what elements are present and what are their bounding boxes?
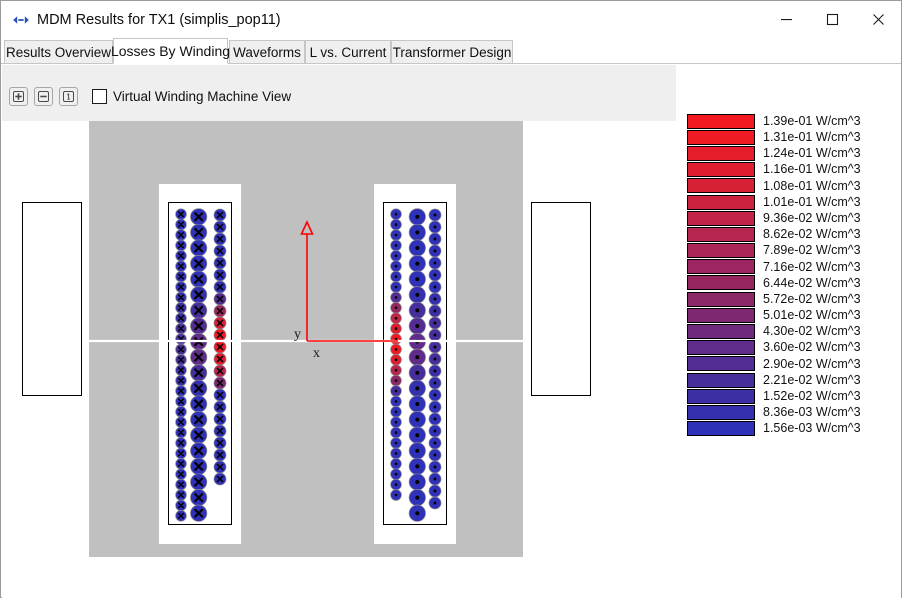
legend-value-label: 1.16e-01 W/cm^3 bbox=[763, 163, 861, 176]
legend-row: 7.16e-02 W/cm^3 bbox=[687, 259, 867, 275]
legend-color-swatch bbox=[687, 146, 755, 161]
legend-value-label: 1.52e-02 W/cm^3 bbox=[763, 390, 861, 403]
virtual-winding-machine-label: Virtual Winding Machine View bbox=[113, 89, 291, 104]
legend-row: 1.24e-01 W/cm^3 bbox=[687, 145, 867, 161]
legend-value-label: 5.72e-02 W/cm^3 bbox=[763, 293, 861, 306]
legend-value-label: 4.30e-02 W/cm^3 bbox=[763, 325, 861, 338]
legend-row: 4.30e-02 W/cm^3 bbox=[687, 323, 867, 339]
tab-label: L vs. Current bbox=[310, 45, 387, 60]
virtual-winding-machine-checkbox[interactable] bbox=[92, 89, 107, 104]
legend-row: 8.62e-02 W/cm^3 bbox=[687, 226, 867, 242]
legend-row: 1.16e-01 W/cm^3 bbox=[687, 162, 867, 178]
legend-value-label: 1.39e-01 W/cm^3 bbox=[763, 115, 861, 128]
loss-density-legend: 1.39e-01 W/cm^31.31e-01 W/cm^31.24e-01 W… bbox=[687, 113, 867, 437]
legend-value-label: 5.01e-02 W/cm^3 bbox=[763, 309, 861, 322]
view-toolbar: Virtual Winding Machine View 1: Primary … bbox=[2, 65, 676, 121]
legend-value-label: 3.60e-02 W/cm^3 bbox=[763, 341, 861, 354]
legend-color-swatch bbox=[687, 211, 755, 226]
legend-row: 5.01e-02 W/cm^3 bbox=[687, 307, 867, 323]
legend-color-swatch bbox=[687, 162, 755, 177]
legend-color-swatch bbox=[687, 178, 755, 193]
legend-value-label: 1.31e-01 W/cm^3 bbox=[763, 131, 861, 144]
legend-color-swatch bbox=[687, 259, 755, 274]
legend-row: 1.39e-01 W/cm^3 bbox=[687, 113, 867, 129]
zoom-in-button[interactable] bbox=[9, 87, 28, 106]
tab-label: Results Overview bbox=[6, 45, 111, 60]
legend-color-swatch bbox=[687, 275, 755, 290]
legend-value-label: 1.24e-01 W/cm^3 bbox=[763, 147, 861, 160]
legend-row: 7.89e-02 W/cm^3 bbox=[687, 243, 867, 259]
mdm-results-window: MDM Results for TX1 (simplis_pop11) Resu… bbox=[0, 0, 902, 598]
legend-color-swatch bbox=[687, 324, 755, 339]
legend-row: 6.44e-02 W/cm^3 bbox=[687, 275, 867, 291]
legend-row: 1.56e-03 W/cm^3 bbox=[687, 421, 867, 437]
legend-color-swatch bbox=[687, 308, 755, 323]
legend-row: 3.60e-02 W/cm^3 bbox=[687, 340, 867, 356]
legend-value-label: 2.21e-02 W/cm^3 bbox=[763, 374, 861, 387]
tab-label: Waveforms bbox=[233, 45, 301, 60]
legend-color-swatch bbox=[687, 389, 755, 404]
legend-row: 1.31e-01 W/cm^3 bbox=[687, 129, 867, 145]
axis-y-label: y bbox=[294, 327, 301, 342]
legend-value-label: 1.01e-01 W/cm^3 bbox=[763, 196, 861, 209]
left-right-arrow-icon bbox=[11, 10, 31, 30]
legend-row: 2.21e-02 W/cm^3 bbox=[687, 372, 867, 388]
close-button[interactable] bbox=[855, 1, 901, 37]
legend-row: 1.52e-02 W/cm^3 bbox=[687, 388, 867, 404]
toolbar-controls: Virtual Winding Machine View bbox=[9, 87, 291, 106]
legend-color-swatch bbox=[687, 243, 755, 258]
legend-row: 8.36e-03 W/cm^3 bbox=[687, 404, 867, 420]
legend-color-swatch bbox=[687, 421, 755, 436]
zoom-reset-button[interactable] bbox=[59, 87, 78, 106]
axis-x-label: x bbox=[313, 346, 320, 361]
legend-color-swatch bbox=[687, 130, 755, 145]
legend-value-label: 8.62e-02 W/cm^3 bbox=[763, 228, 861, 241]
title-bar: MDM Results for TX1 (simplis_pop11) bbox=[1, 1, 901, 38]
tab-label: Losses By Winding bbox=[111, 43, 230, 59]
legend-color-swatch bbox=[687, 114, 755, 129]
legend-row: 9.36e-02 W/cm^3 bbox=[687, 210, 867, 226]
legend-color-swatch bbox=[687, 356, 755, 371]
legend-row: 5.72e-02 W/cm^3 bbox=[687, 291, 867, 307]
tab-losses-by-winding[interactable]: Losses By Winding bbox=[113, 38, 228, 64]
minimize-button[interactable] bbox=[763, 1, 809, 37]
legend-color-swatch bbox=[687, 340, 755, 355]
legend-value-label: 6.44e-02 W/cm^3 bbox=[763, 277, 861, 290]
legend-color-swatch bbox=[687, 195, 755, 210]
window-title: MDM Results for TX1 (simplis_pop11) bbox=[37, 12, 281, 28]
legend-color-swatch bbox=[687, 405, 755, 420]
tab-results-overview[interactable]: Results Overview bbox=[4, 40, 113, 64]
tab-strip: Results OverviewLosses By WindingWavefor… bbox=[1, 38, 901, 64]
legend-row: 2.90e-02 W/cm^3 bbox=[687, 356, 867, 372]
tab-label: Transformer Design bbox=[393, 45, 512, 60]
legend-value-label: 2.90e-02 W/cm^3 bbox=[763, 358, 861, 371]
tab-waveforms[interactable]: Waveforms bbox=[229, 40, 305, 64]
tab-transformer-design[interactable]: Transformer Design bbox=[391, 40, 513, 64]
legend-row: 1.01e-01 W/cm^3 bbox=[687, 194, 867, 210]
tab-l-vs-current[interactable]: L vs. Current bbox=[305, 40, 391, 64]
legend-value-label: 1.08e-01 W/cm^3 bbox=[763, 180, 861, 193]
zoom-out-button[interactable] bbox=[34, 87, 53, 106]
legend-color-swatch bbox=[687, 227, 755, 242]
legend-color-swatch bbox=[687, 373, 755, 388]
legend-value-label: 8.36e-03 W/cm^3 bbox=[763, 406, 861, 419]
legend-value-label: 7.89e-02 W/cm^3 bbox=[763, 244, 861, 257]
axis-y-arrowhead bbox=[302, 222, 313, 234]
legend-color-swatch bbox=[687, 292, 755, 307]
legend-row: 1.08e-01 W/cm^3 bbox=[687, 178, 867, 194]
legend-value-label: 1.56e-03 W/cm^3 bbox=[763, 422, 861, 435]
maximize-button[interactable] bbox=[809, 1, 855, 37]
legend-value-label: 9.36e-02 W/cm^3 bbox=[763, 212, 861, 225]
legend-value-label: 7.16e-02 W/cm^3 bbox=[763, 261, 861, 274]
window-controls bbox=[763, 1, 901, 37]
